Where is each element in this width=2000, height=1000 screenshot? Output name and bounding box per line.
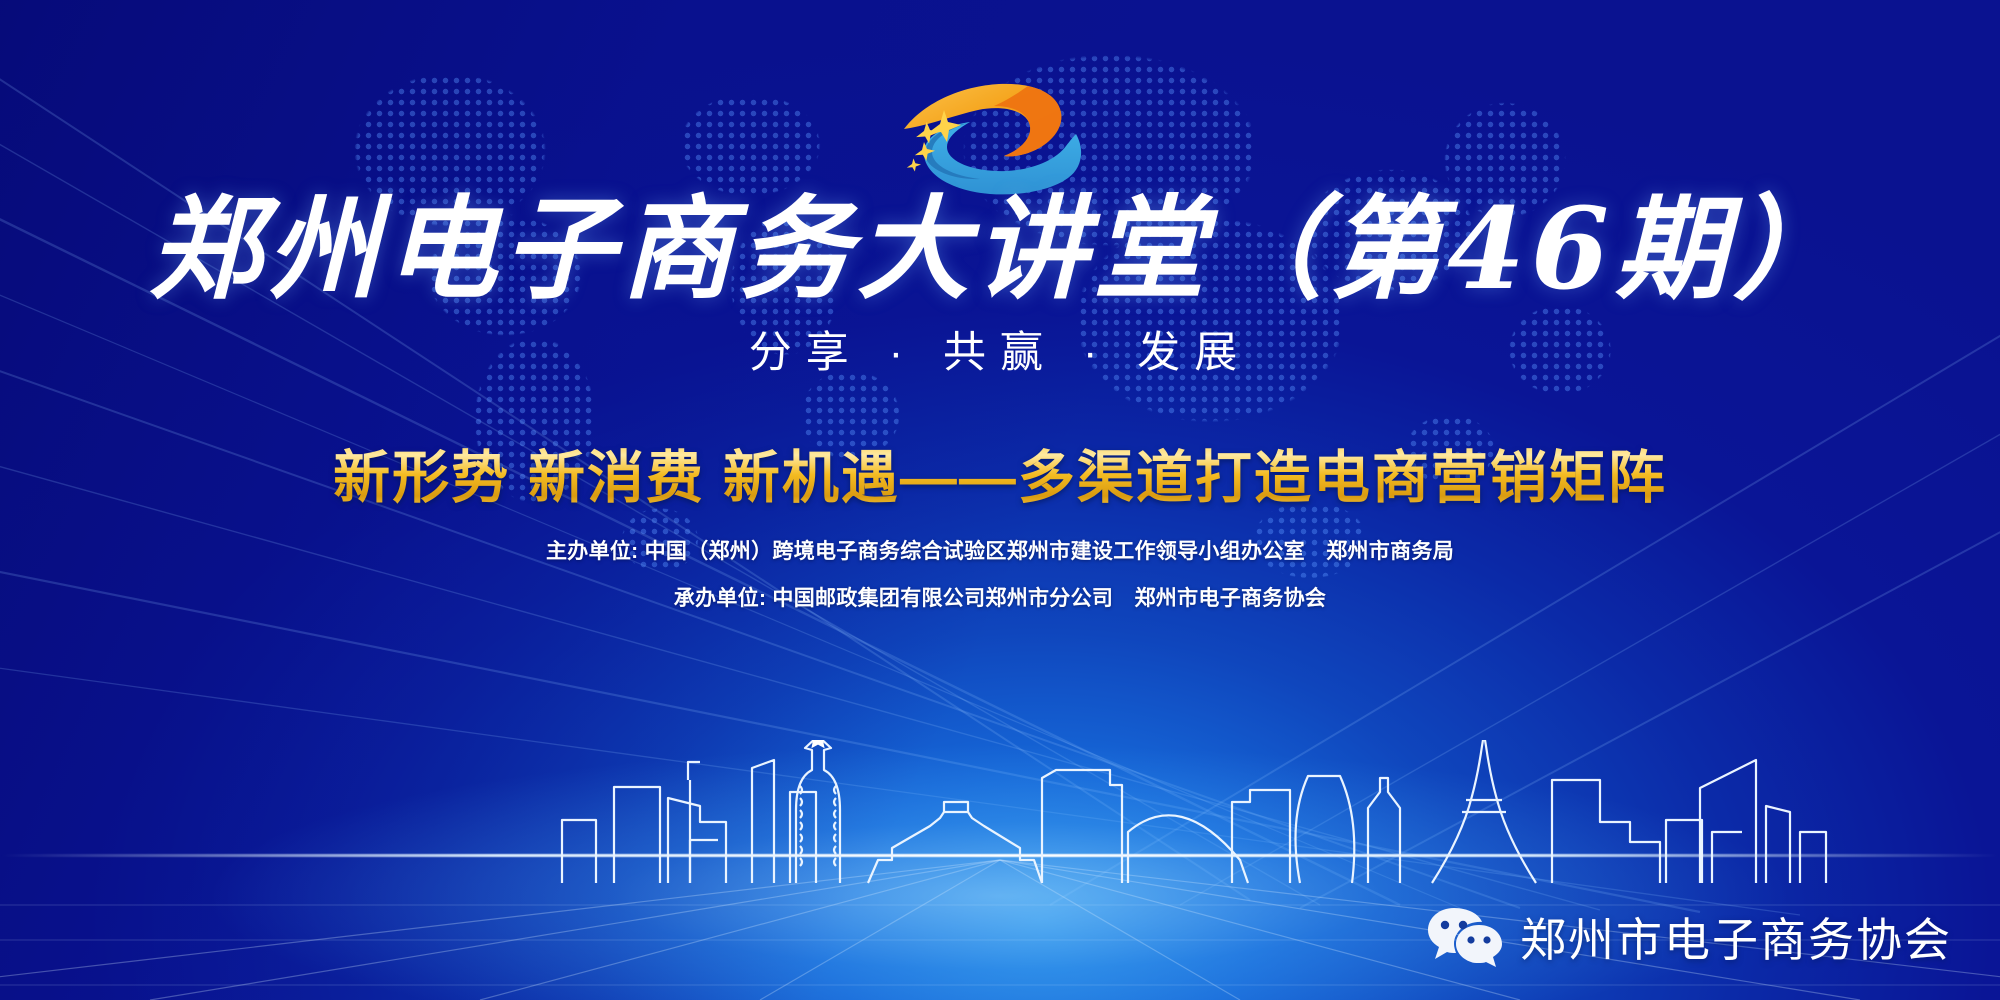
wechat-account-label: 郑州市电子商务协会 [1520,904,1952,970]
zhengzhou-ecommerce-logo [880,72,1110,202]
page-title: 郑州电子商务大讲堂（第46期） [0,188,2000,311]
organizer-line: 主办单位: 中国（郑州）跨境电子商务综合试验区郑州市建设工作领导小组办公室 郑州… [0,535,2000,565]
poster-canvas: 郑州电子商务大讲堂（第46期） 分享 · 共赢 · 发展 新形势 新消费 新机遇… [0,0,2000,1000]
wechat-badge[interactable]: 郑州市电子商务协会 [1426,904,1952,970]
poster-headline: 新形势 新消费 新机遇——多渠道打造电商营销矩阵 [0,432,2000,514]
wechat-icon [1426,906,1504,968]
co-organizer-line: 承办单位: 中国邮政集团有限公司郑州市分公司 郑州市电子商务协会 [0,582,2000,612]
poster-subtitle: 分享 · 共赢 · 发展 [0,318,2000,380]
logo-star-tiny [907,158,921,171]
